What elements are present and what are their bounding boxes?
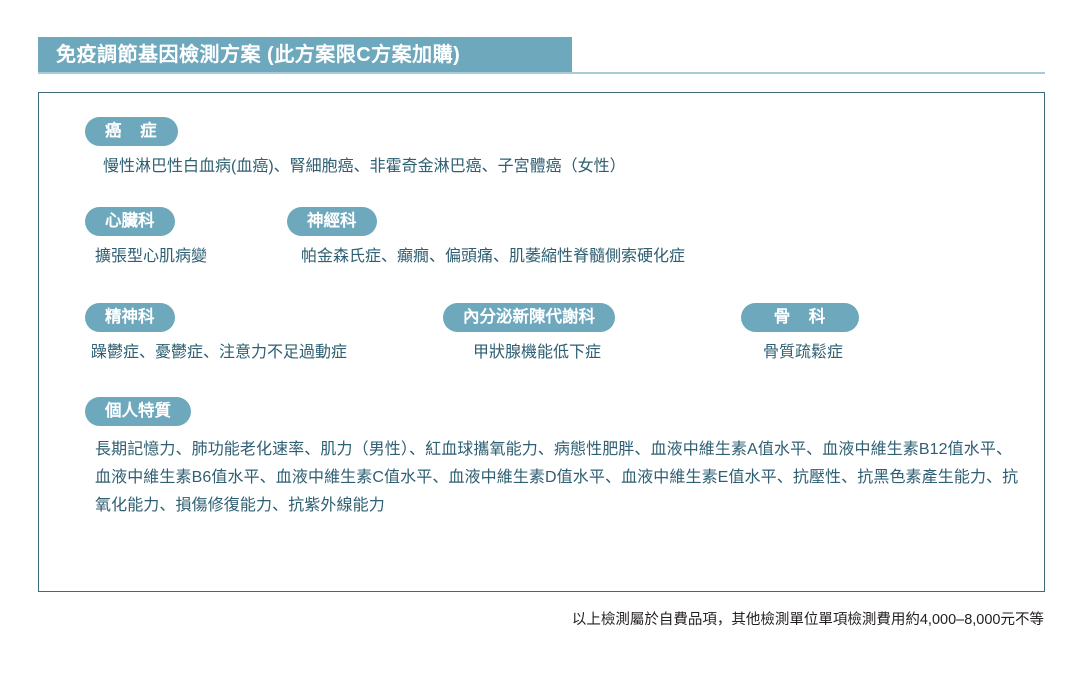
section-items-psychiatry: 躁鬱症、憂鬱症、注意力不足過動症 [91, 341, 347, 366]
header-banner: 免疫調節基因檢測方案 (此方案限C方案加購) [38, 37, 572, 73]
section-label-endocrine-metabolism: 內分泌新陳代謝科 [443, 303, 615, 332]
section-items-orthopedics: 骨質疏鬆症 [763, 341, 859, 366]
page-header: 免疫調節基因檢測方案 (此方案限C方案加購) [38, 37, 572, 73]
section-endocrine-metabolism: 內分泌新陳代謝科 甲狀腺機能低下症 [443, 303, 615, 366]
section-neurology: 神經科 帕金森氏症、癲癇、偏頭痛、肌萎縮性脊髓側索硬化症 [287, 207, 685, 270]
section-cardiology: 心臟科 擴張型心肌病變 [85, 207, 207, 270]
section-label-orthopedics: 骨 科 [741, 303, 859, 332]
section-items-personal-traits: 長期記憶力、肺功能老化速率、肌力（男性）、紅血球攜氧能力、病態性肥胖、血液中維生… [95, 436, 1025, 520]
section-items-neurology: 帕金森氏症、癲癇、偏頭痛、肌萎縮性脊髓側索硬化症 [301, 245, 685, 270]
immune-gene-test-plan-page: { "header": { "title": "免疫調節基因檢測方案 (此方案限… [0, 0, 1080, 695]
footer-note: 以上檢測屬於自費品項，其他檢測單位單項檢測費用約4,000–8,000元不等 [572, 611, 1044, 630]
section-cancer: 癌 症 慢性淋巴性白血病(血癌)、腎細胞癌、非霍奇金淋巴癌、子宮體癌（女性） [85, 117, 626, 180]
section-label-cancer: 癌 症 [85, 117, 178, 146]
section-items-cancer: 慢性淋巴性白血病(血癌)、腎細胞癌、非霍奇金淋巴癌、子宮體癌（女性） [103, 155, 626, 180]
section-items-endocrine-metabolism: 甲狀腺機能低下症 [473, 341, 615, 366]
section-label-cardiology: 心臟科 [85, 207, 175, 236]
test-items-panel: 癌 症 慢性淋巴性白血病(血癌)、腎細胞癌、非霍奇金淋巴癌、子宮體癌（女性） 心… [38, 92, 1045, 592]
section-label-personal-traits: 個人特質 [85, 397, 191, 426]
page-title: 免疫調節基因檢測方案 (此方案限C方案加購) [56, 45, 460, 65]
section-psychiatry: 精神科 躁鬱症、憂鬱症、注意力不足過動症 [85, 303, 347, 366]
header-divider [38, 72, 1045, 74]
section-orthopedics: 骨 科 骨質疏鬆症 [741, 303, 859, 366]
section-label-neurology: 神經科 [287, 207, 377, 236]
section-personal-traits: 個人特質 長期記憶力、肺功能老化速率、肌力（男性）、紅血球攜氧能力、病態性肥胖、… [85, 397, 1015, 520]
section-label-psychiatry: 精神科 [85, 303, 175, 332]
section-items-cardiology: 擴張型心肌病變 [95, 245, 207, 270]
